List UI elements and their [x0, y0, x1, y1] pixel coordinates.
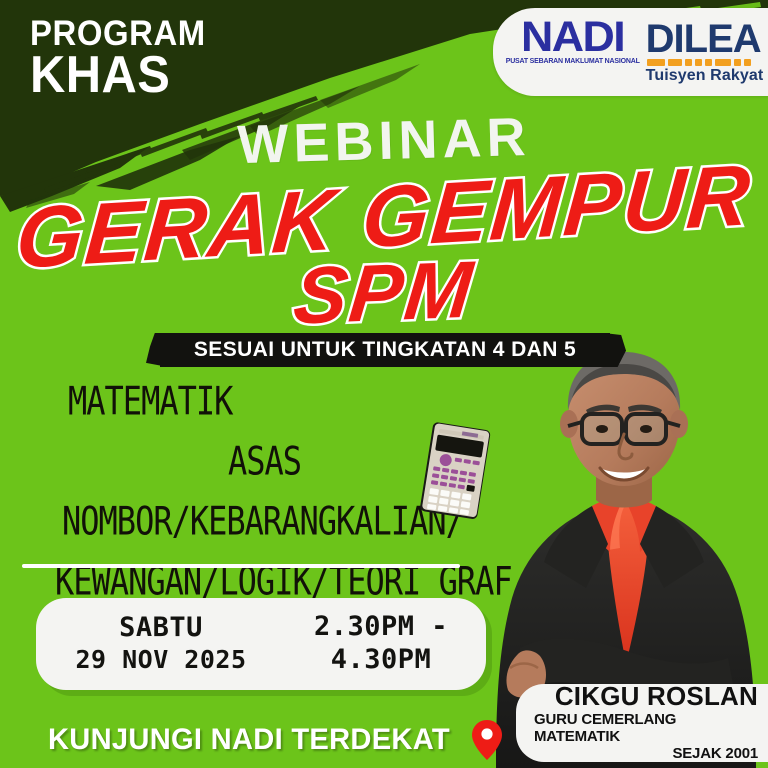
- nadi-tagline: PUSAT SEBARAN MAKLUMAT NASIONAL: [506, 58, 640, 65]
- page-title: PROGRAM KHAS: [30, 18, 217, 100]
- dilea-logo: DILEA Tuisyen Rakyat: [646, 21, 764, 85]
- nadi-logo: NADI PUSAT SEBARAN MAKLUMAT NASIONAL: [506, 19, 640, 65]
- dilea-dash-decoration: [647, 59, 751, 66]
- schedule-card: SABTU 29 NOV 2025 2.30PM - 4.30PM: [36, 598, 486, 690]
- section-divider: [22, 564, 460, 568]
- schedule-time-start: 2.30PM -: [286, 611, 476, 644]
- cta-visit-nadi[interactable]: KUNJUNGI NADI TERDEKAT: [48, 718, 504, 762]
- schedule-date: 29 NOV 2025: [36, 645, 286, 676]
- title-line-2: SPM: [290, 243, 479, 342]
- subject-line-1: MATEMATIK: [68, 378, 530, 424]
- schedule-time-end: 4.30PM: [286, 644, 476, 677]
- nadi-wordmark: NADI: [521, 19, 624, 57]
- brand-logo-card: NADI PUSAT SEBARAN MAKLUMAT NASIONAL DIL…: [493, 8, 768, 96]
- cta-label: KUNJUNGI NADI TERDEKAT: [48, 723, 450, 757]
- map-pin-icon: [470, 718, 504, 762]
- presenter-name: CIKGU ROSLAN: [555, 683, 758, 710]
- audience-banner: SESUAI UNTUK TINGKATAN 4 DAN 5: [160, 333, 610, 367]
- poster-canvas: PROGRAM KHAS NADI PUSAT SEBARAN MAKLUMAT…: [0, 0, 768, 768]
- dilea-tagline: Tuisyen Rakyat: [646, 67, 764, 85]
- presenter-since: SEJAK 2001: [672, 745, 758, 762]
- schedule-day: SABTU: [36, 612, 286, 645]
- audience-banner-text: SESUAI UNTUK TINGKATAN 4 DAN 5: [194, 338, 576, 362]
- presenter-role: GURU CEMERLANG MATEMATIK: [534, 711, 758, 746]
- schedule-time-block: 2.30PM - 4.30PM: [286, 611, 476, 677]
- headline-line-2: KHAS: [30, 52, 206, 100]
- presenter-name-card: CIKGU ROSLAN GURU CEMERLANG MATEMATIK SE…: [516, 684, 768, 762]
- dilea-wordmark: DILEA: [646, 21, 761, 57]
- schedule-date-block: SABTU 29 NOV 2025: [36, 612, 286, 675]
